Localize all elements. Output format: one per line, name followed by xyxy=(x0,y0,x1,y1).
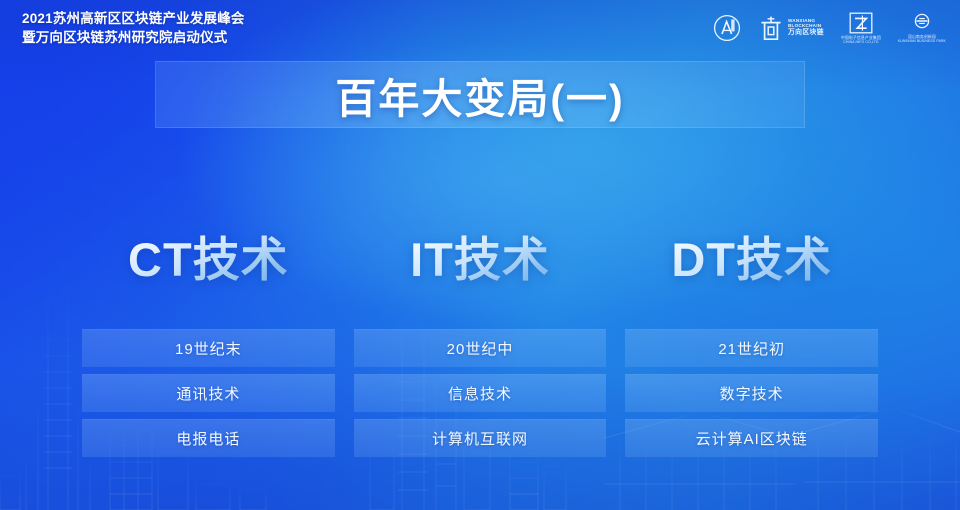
china-enterprise-logo-icon xyxy=(849,12,873,34)
conference-title-line2: 暨万向区块链苏州研究院启动仪式 xyxy=(22,28,245,47)
column-heading-it-text: IT技术 xyxy=(410,221,550,290)
sponsor-logo-strip: WANXIANG BLOCKCHAIN 万向区块链 中国电子信息产业集团 CHI… xyxy=(713,11,946,45)
column-heading-it: IT技术 xyxy=(354,205,607,305)
technology-column-it: IT技术 20世纪中 信息技术 计算机互联网 xyxy=(354,205,607,457)
table-cell-it-era: 20世纪中 xyxy=(354,329,607,367)
wanxiang-blockchain-logo-icon xyxy=(758,14,784,42)
technology-columns: CT技术 19世纪末 通讯技术 电报电话 IT技术 20世纪中 信息技术 计算机… xyxy=(82,205,878,457)
wanxiang-logo-cn: 万向区块链 xyxy=(788,29,824,36)
column-heading-dt-text: DT技术 xyxy=(671,221,832,290)
column-heading-ct-text: CT技术 xyxy=(128,221,289,290)
conference-title-line1: 2021苏州高新区区块链产业发展峰会 xyxy=(22,9,245,28)
sponsor-logo-1 xyxy=(713,11,741,45)
table-cell-ct-tech: 通讯技术 xyxy=(82,374,335,412)
column-heading-ct: CT技术 xyxy=(82,205,335,305)
sponsor-logo-3: 中国电子信息产业集团 CHINA INFO CO,LTD xyxy=(841,12,881,45)
wanxiang-blockchain-logo-text: WANXIANG BLOCKCHAIN 万向区块链 xyxy=(788,19,824,36)
table-cell-it-examples: 计算机互联网 xyxy=(354,419,607,457)
nanjing-institute-logo-icon xyxy=(713,14,741,42)
table-cell-ct-era: 19世纪末 xyxy=(82,329,335,367)
table-cell-it-tech: 信息技术 xyxy=(354,374,607,412)
table-cell-ct-examples: 电报电话 xyxy=(82,419,335,457)
sponsor-logo-4: 昆山商务创新园 KUNSHAN BUSINESS PARK xyxy=(898,13,946,44)
table-cell-dt-tech: 数字技术 xyxy=(625,374,878,412)
slide-title: 百年大变局(一) xyxy=(335,65,624,125)
technology-column-ct: CT技术 19世纪末 通讯技术 电报电话 xyxy=(82,205,335,457)
column-heading-dt: DT技术 xyxy=(625,205,878,305)
title-banner: 百年大变局(一) xyxy=(155,61,805,128)
china-enterprise-logo-text: 中国电子信息产业集团 CHINA INFO CO,LTD xyxy=(841,36,881,45)
kunshan-business-logo-icon xyxy=(911,13,933,33)
presentation-slide: 2021苏州高新区区块链产业发展峰会 暨万向区块链苏州研究院启动仪式 xyxy=(0,0,960,510)
table-cell-dt-examples: 云计算AI区块链 xyxy=(625,419,878,457)
kunshan-business-logo-text: 昆山商务创新园 KUNSHAN BUSINESS PARK xyxy=(898,35,946,44)
slide-header: 2021苏州高新区区块链产业发展峰会 暨万向区块链苏州研究院启动仪式 xyxy=(0,0,960,56)
china-enterprise-logo-en: CHINA INFO CO,LTD xyxy=(843,40,878,44)
table-cell-dt-era: 21世纪初 xyxy=(625,329,878,367)
sponsor-logo-2: WANXIANG BLOCKCHAIN 万向区块链 xyxy=(758,11,824,45)
kunshan-business-logo-en: KUNSHAN BUSINESS PARK xyxy=(898,39,946,43)
conference-title: 2021苏州高新区区块链产业发展峰会 暨万向区块链苏州研究院启动仪式 xyxy=(22,9,245,47)
technology-column-dt: DT技术 21世纪初 数字技术 云计算AI区块链 xyxy=(625,205,878,457)
